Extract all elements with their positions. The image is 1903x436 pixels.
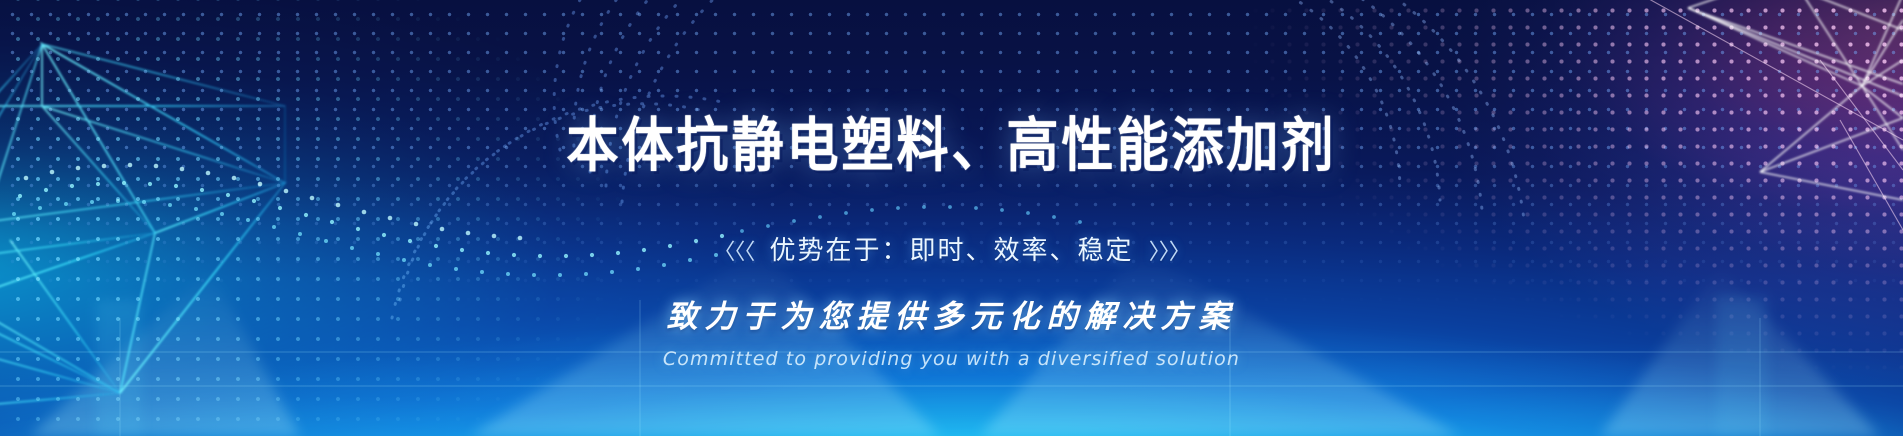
- banner-headline: 本体抗静电塑料、高性能添加剂: [566, 116, 1336, 178]
- banner-subtitle: 〈〈〈 优势在于：即时、效率、稳定 〉〉〉: [707, 230, 1196, 267]
- hero-banner: 本体抗静电塑料、高性能添加剂 〈〈〈 优势在于：即时、效率、稳定 〉〉〉 致力于…: [0, 0, 1903, 436]
- chevron-right-icon: 〉〉〉: [1143, 239, 1196, 264]
- chevron-left-icon: 〈〈〈: [707, 239, 760, 264]
- banner-script-line: 致力于为您提供多元化的解决方案: [667, 291, 1237, 336]
- banner-subtitle-text: 优势在于：即时、效率、稳定: [769, 235, 1133, 265]
- banner-english-line: Committed to providing you with a divers…: [663, 348, 1240, 370]
- banner-content: 本体抗静电塑料、高性能添加剂 〈〈〈 优势在于：即时、效率、稳定 〉〉〉 致力于…: [0, 0, 1903, 436]
